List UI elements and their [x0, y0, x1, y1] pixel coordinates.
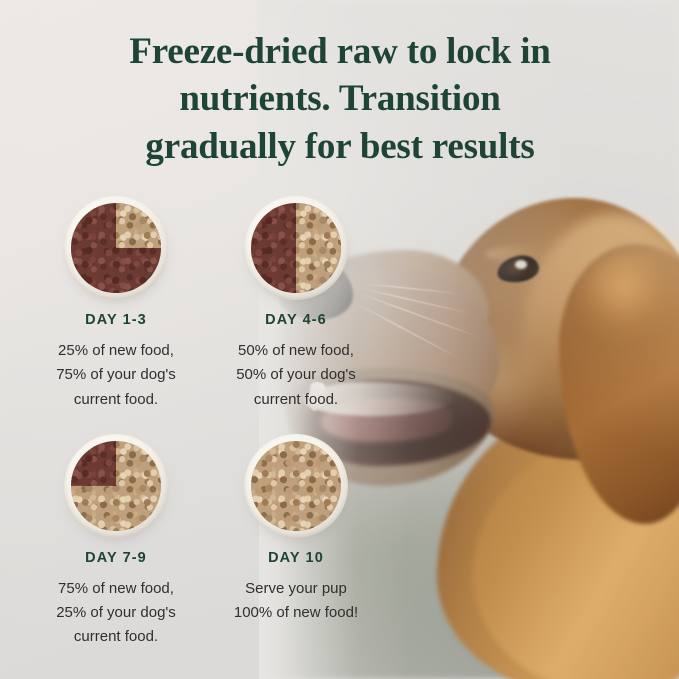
bowl-rim — [244, 196, 348, 300]
step-description: 50% of new food, 50% of your dog's curre… — [206, 339, 386, 412]
step-description: 75% of new food, 25% of your dog's curre… — [26, 577, 206, 650]
step-description: 25% of new food, 75% of your dog's curre… — [26, 339, 206, 412]
day-label: DAY 10 — [206, 550, 386, 566]
desc-line: 100% of new food! — [206, 601, 386, 625]
bowl-food — [251, 441, 341, 531]
headline-line-2: nutrients. Transition — [50, 75, 630, 122]
transition-steps: DAY 1-3 25% of new food, 75% of your dog… — [26, 196, 386, 650]
bowl-day-4-6 — [244, 196, 348, 300]
desc-line: current food. — [206, 388, 386, 412]
bowl-food — [251, 203, 341, 293]
headline-line-3: gradually for best results — [50, 123, 630, 170]
step-row-bottom: DAY 7-9 75% of new food, 25% of your dog… — [26, 434, 386, 650]
bowl-rim — [244, 434, 348, 538]
desc-line: 50% of your dog's — [206, 363, 386, 387]
desc-line: 25% of new food, — [26, 339, 206, 363]
desc-line: current food. — [26, 388, 206, 412]
day-label: DAY 1-3 — [26, 312, 206, 328]
desc-line: 25% of your dog's — [26, 601, 206, 625]
desc-line: current food. — [26, 625, 206, 649]
dog-eye-glint — [515, 260, 527, 269]
desc-line: 50% of new food, — [206, 339, 386, 363]
day-label: DAY 4-6 — [206, 312, 386, 328]
headline: Freeze-dried raw to lock in nutrients. T… — [50, 28, 630, 170]
headline-line-1: Freeze-dried raw to lock in — [50, 28, 630, 75]
bowl-day-1-3 — [64, 196, 168, 300]
bowl-day-7-9 — [64, 434, 168, 538]
step-description: Serve your pup 100% of new food! — [206, 577, 386, 626]
bowl-day-10 — [244, 434, 348, 538]
bowl-rim — [64, 434, 168, 538]
desc-line: 75% of new food, — [26, 577, 206, 601]
infographic-canvas: Freeze-dried raw to lock in nutrients. T… — [0, 0, 679, 679]
row-spacer — [26, 412, 386, 434]
bowl-rim — [64, 196, 168, 300]
desc-line: 75% of your dog's — [26, 363, 206, 387]
bowl-food — [71, 441, 161, 531]
desc-line: Serve your pup — [206, 577, 386, 601]
bowl-food — [71, 203, 161, 293]
step-day-4-6: DAY 4-6 50% of new food, 50% of your dog… — [206, 196, 386, 412]
step-day-10: DAY 10 Serve your pup 100% of new food! — [206, 434, 386, 650]
day-label: DAY 7-9 — [26, 550, 206, 566]
step-row-top: DAY 1-3 25% of new food, 75% of your dog… — [26, 196, 386, 412]
step-day-1-3: DAY 1-3 25% of new food, 75% of your dog… — [26, 196, 206, 412]
step-day-7-9: DAY 7-9 75% of new food, 25% of your dog… — [26, 434, 206, 650]
new-food-kibble — [251, 441, 341, 531]
